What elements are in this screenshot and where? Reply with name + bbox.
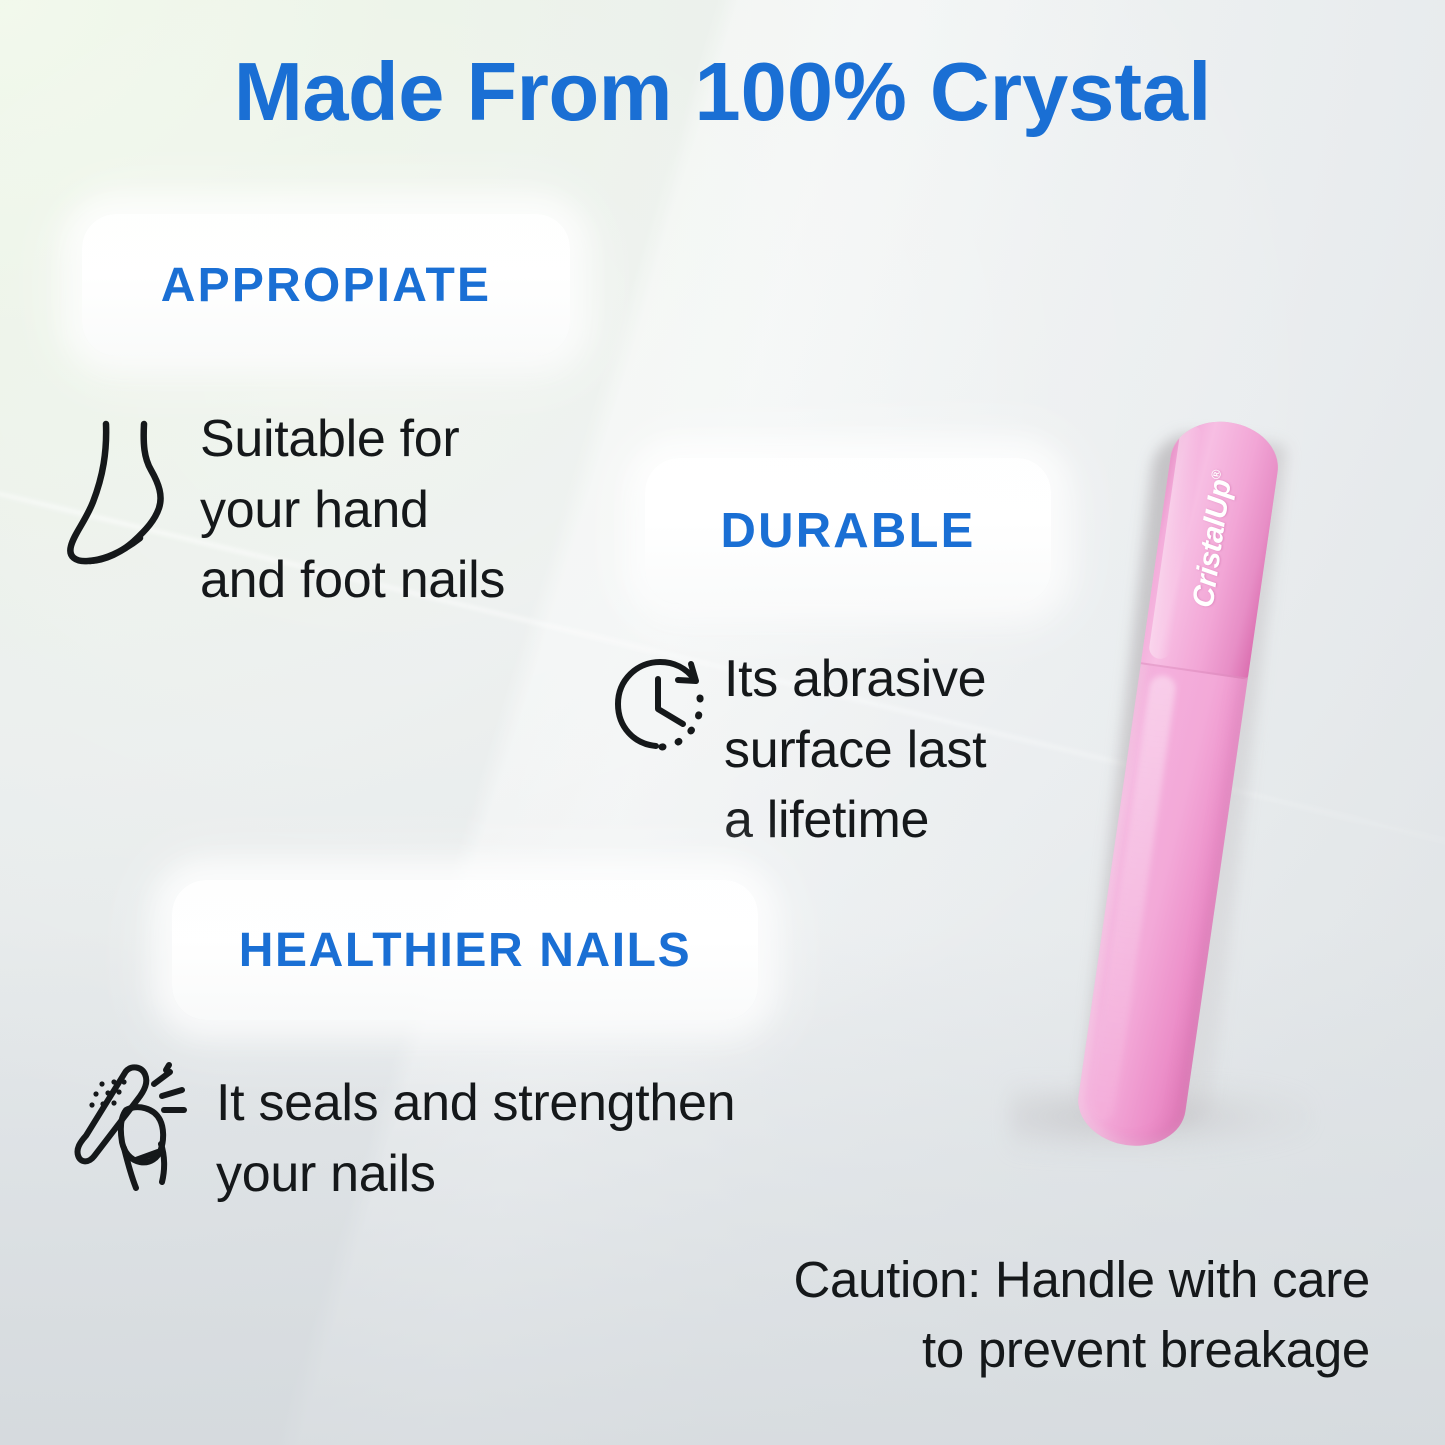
headline-part-one: Made From (234, 45, 695, 138)
caution-text: Caution: Handle with care to prevent bre… (560, 1245, 1370, 1386)
product-body: CristalUp® (1073, 415, 1284, 1153)
badge-durable-label: DURABLE (721, 503, 976, 559)
badge-healthier-nails: HEALTHIER NAILS (172, 880, 758, 1020)
page-title: Made From 100% Crystal (0, 50, 1445, 135)
feature-suitable-text: Suitable for your hand and foot nails (200, 404, 505, 616)
infographic-canvas: Made From 100% Crystal APPROPIATE Suitab… (0, 0, 1445, 1445)
nail-file-icon (66, 1052, 196, 1192)
product-gloss-highlight (1087, 674, 1177, 1123)
badge-appropiate-label: APPROPIATE (161, 258, 491, 313)
product-trademark-symbol: ® (1208, 469, 1224, 480)
badge-healthier-nails-label: HEALTHIER NAILS (239, 923, 691, 978)
feature-seals-text: It seals and strengthen your nails (216, 1068, 735, 1209)
clock-arrow-icon (612, 654, 708, 754)
badge-appropiate: APPROPIATE (82, 214, 570, 356)
foot-icon (60, 410, 180, 570)
feature-abrasive-text: Its abrasive surface last a lifetime (724, 644, 986, 856)
headline-part-two: 100% Crystal (695, 45, 1212, 138)
product-nail-file: CristalUp® (980, 395, 1340, 1185)
